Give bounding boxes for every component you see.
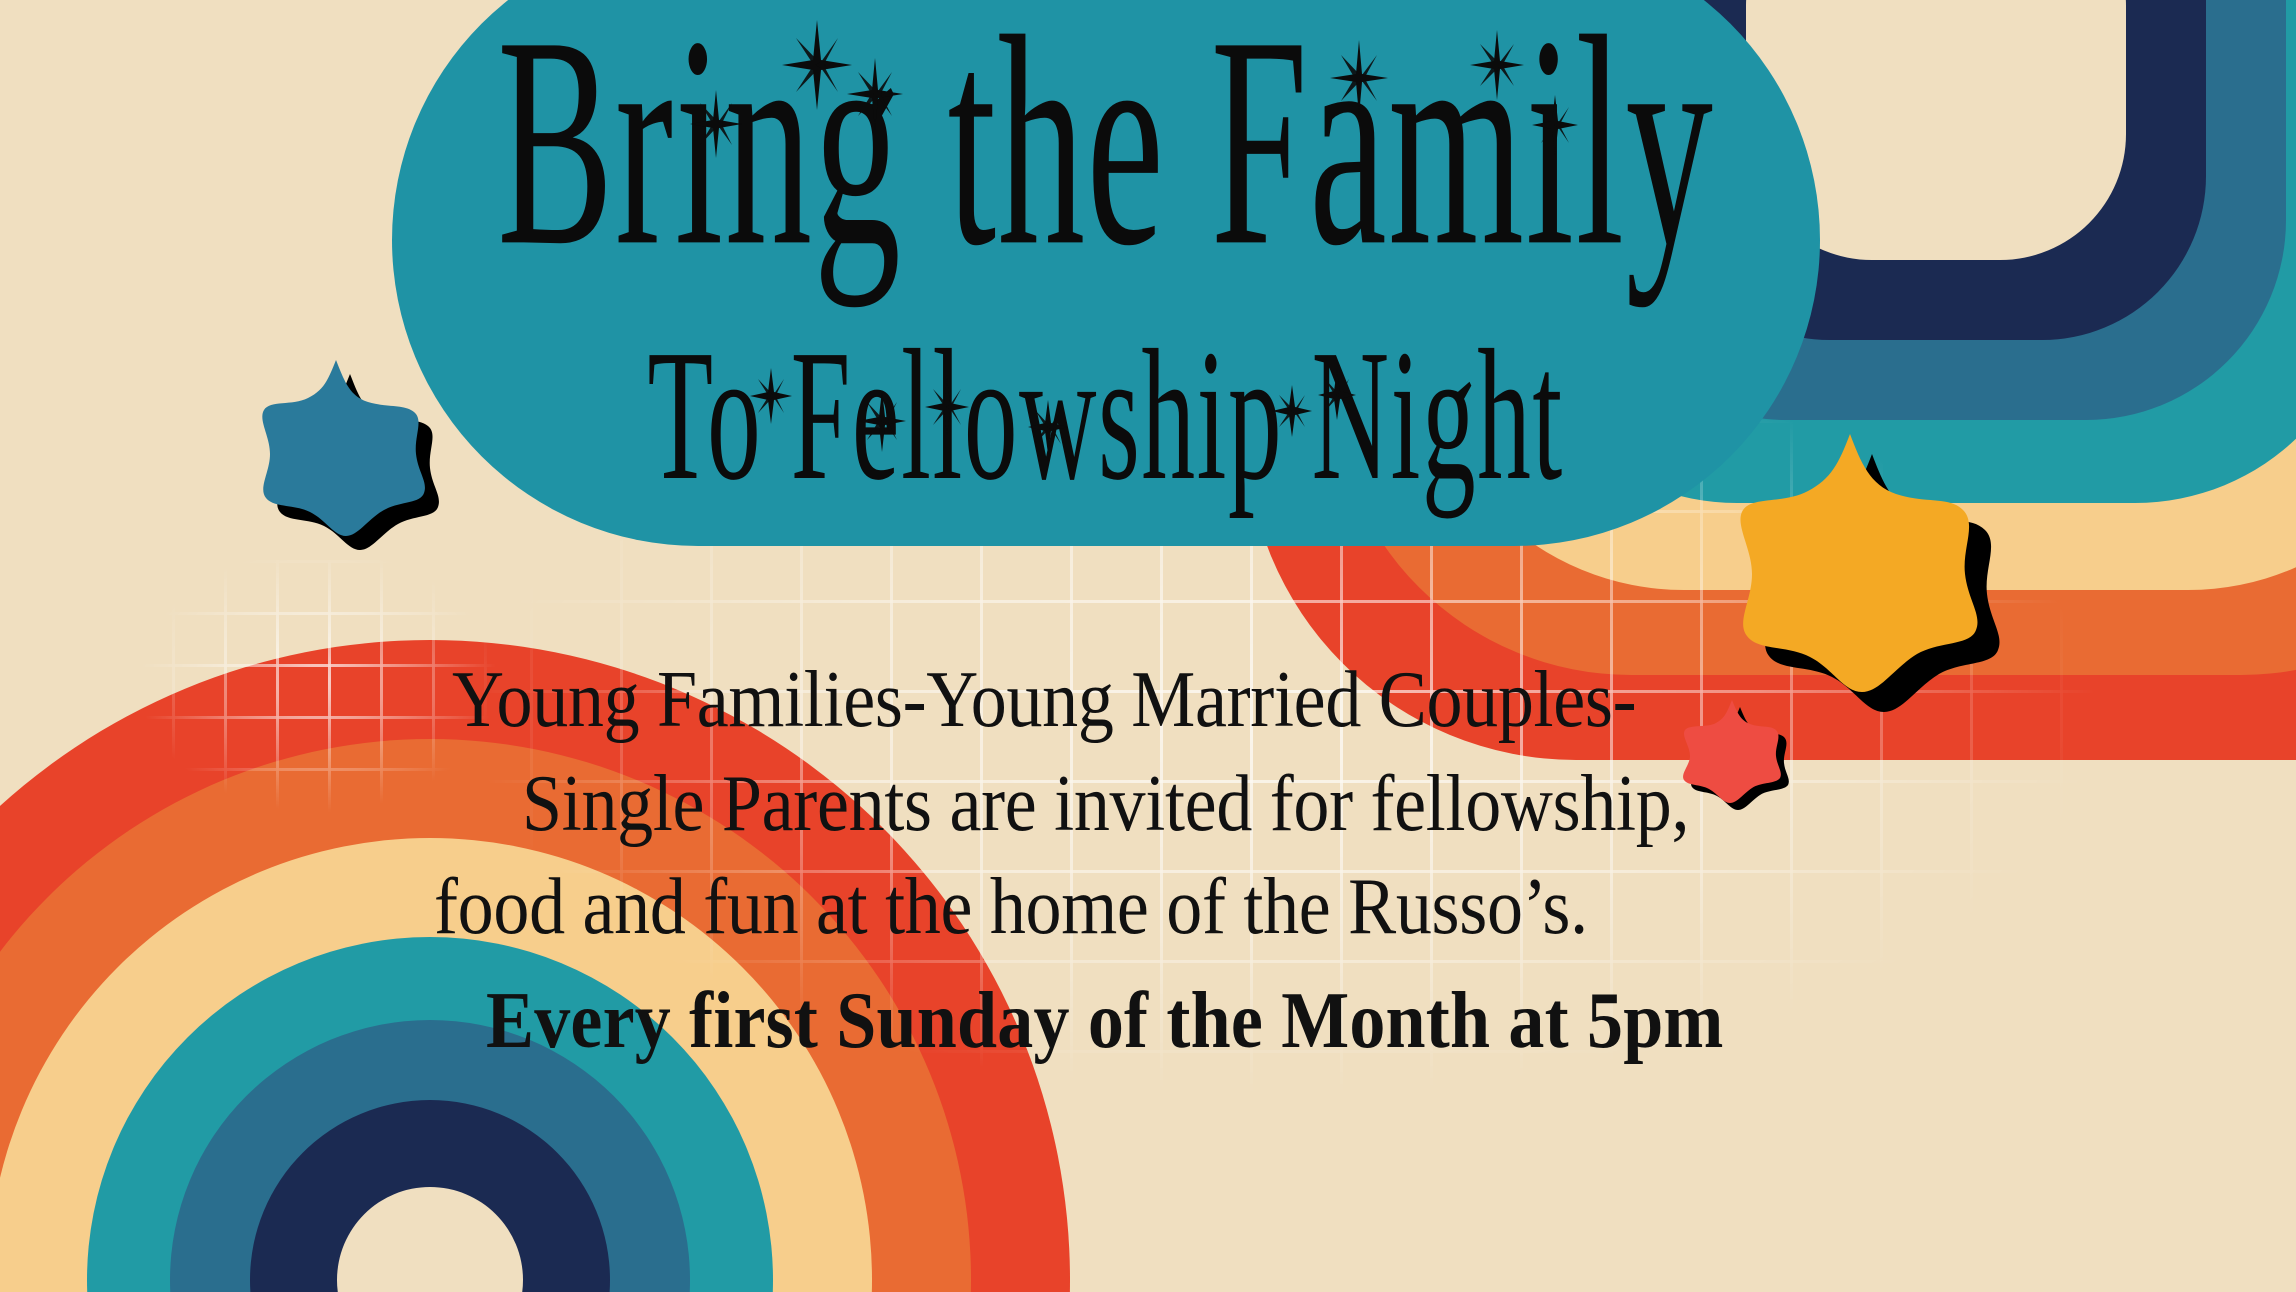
- title-line-1: Bring the Family: [497, 0, 1714, 293]
- red-star: [1682, 698, 1794, 806]
- body-line-4-highlight: Every first Sunday of the Month at 5pm: [430, 963, 1910, 1079]
- body-line-3: food and fun at the home of the Russo’s.: [430, 849, 1910, 965]
- title-line-2: To Fellowship Night: [648, 321, 1564, 509]
- poster-canvas: Bring the Family To Fellowship Night: [0, 0, 2296, 1292]
- title-block: Bring the Family To Fellowship Night: [392, 0, 1820, 546]
